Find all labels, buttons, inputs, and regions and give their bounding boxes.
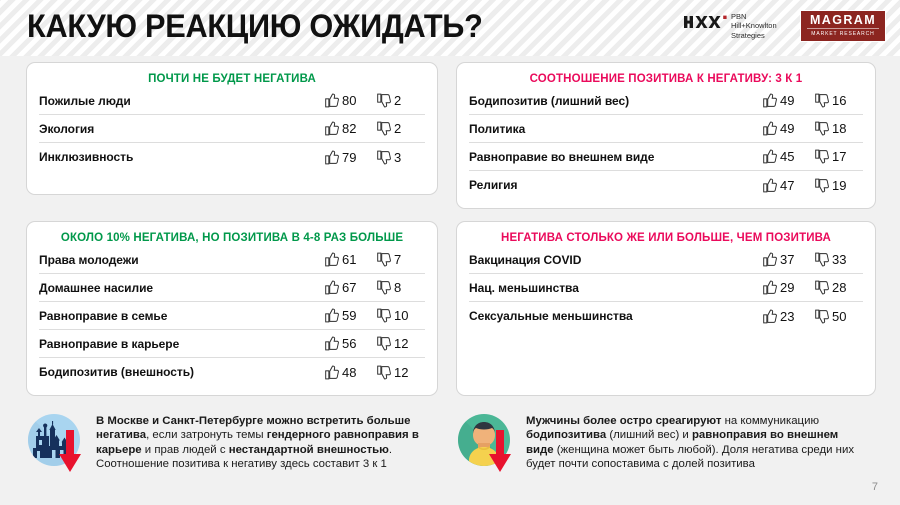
row-label: Пожилые люди: [39, 94, 325, 108]
slide-root: КАКУЮ РЕАКЦИЮ ОЖИДАТЬ? PBN Hill+Knowlton: [0, 0, 900, 505]
footnote-segment: (женщина может быть любой). Доля негатив…: [526, 444, 854, 470]
arrow-down-icon: [59, 430, 81, 472]
row-label: Домашнее насилие: [39, 281, 325, 295]
hk-line-3: Strategies: [731, 31, 765, 40]
footnote-left-badge: [28, 412, 88, 472]
thumbs-down-icon: [815, 149, 829, 164]
thumbs-up-icon: [763, 309, 777, 324]
card-title: ОКОЛО 10% НЕГАТИВА, НО ПОЗИТИВА В 4-8 РА…: [27, 222, 437, 246]
footnote-segment: Мужчины более остро среагируют: [526, 415, 721, 427]
thumbs-down-icon: [377, 308, 391, 323]
positive-value: 49: [780, 121, 794, 136]
thumbs-up-icon: [763, 149, 777, 164]
thumbs-down-icon: [377, 93, 391, 108]
card-title: ПОЧТИ НЕ БУДЕТ НЕГАТИВА: [27, 63, 437, 87]
positive-stat: 61: [325, 252, 377, 267]
footnote-segment: на коммуникацию: [721, 415, 819, 427]
thumbs-down-icon: [815, 280, 829, 295]
table-row: Инклюзивность793: [39, 143, 425, 171]
positive-stat: 79: [325, 150, 377, 165]
row-label: Сексуальные меньшинства: [469, 309, 763, 323]
card-rows: Вакцинация COVID3733Нац. меньшинства2928…: [457, 246, 875, 330]
thumbs-down-icon: [815, 252, 829, 267]
positive-value: 47: [780, 178, 794, 193]
footnote-segment: (лишний вес) и: [606, 429, 692, 441]
row-label: Экология: [39, 122, 325, 136]
page-number: 7: [872, 481, 878, 493]
thumbs-up-icon: [325, 150, 339, 165]
thumbs-up-icon: [325, 365, 339, 380]
slide-header: КАКУЮ РЕАКЦИЮ ОЖИДАТЬ? PBN Hill+Knowlton: [0, 0, 900, 56]
arrow-down-icon: [489, 430, 511, 472]
negative-stat: 8: [377, 280, 425, 295]
positive-value: 59: [342, 308, 356, 323]
negative-stat: 33: [815, 252, 863, 267]
footnote-segment: бодипозитива: [526, 429, 606, 441]
thumbs-up-icon: [325, 336, 339, 351]
positive-value: 61: [342, 252, 356, 267]
hk-line-1: PBN: [731, 12, 746, 21]
page-title: КАКУЮ РЕАКЦИЮ ОЖИДАТЬ?: [27, 6, 483, 46]
table-row: Равноправие во внешнем виде4517: [469, 143, 863, 171]
thumbs-up-icon: [763, 252, 777, 267]
positive-value: 80: [342, 93, 356, 108]
negative-stat: 12: [377, 365, 425, 380]
magram-logo-subtitle: MARKET RESEARCH: [807, 28, 879, 38]
row-label: Вакцинация COVID: [469, 253, 763, 267]
table-row: Сексуальные меньшинства2350: [469, 302, 863, 330]
table-row: Экология822: [39, 115, 425, 143]
thumbs-up-icon: [325, 308, 339, 323]
positive-stat: 48: [325, 365, 377, 380]
card-rows: Бодипозитив (лишний вес)4916Политика4918…: [457, 87, 875, 199]
thumbs-down-icon: [815, 178, 829, 193]
negative-value: 8: [394, 280, 401, 295]
positive-value: 67: [342, 280, 356, 295]
footnote-segment: , если затронуть темы: [146, 429, 267, 441]
negative-stat: 2: [377, 121, 425, 136]
positive-stat: 67: [325, 280, 377, 295]
negative-value: 18: [832, 121, 846, 136]
positive-stat: 80: [325, 93, 377, 108]
thumbs-up-icon: [763, 280, 777, 295]
positive-stat: 45: [763, 149, 815, 164]
table-row: Нац. меньшинства2928: [469, 274, 863, 302]
table-row: Политика4918: [469, 115, 863, 143]
negative-stat: 50: [815, 309, 863, 324]
card-rows: Права молодежи617Домашнее насилие678Равн…: [27, 246, 437, 386]
table-row: Равноправие в карьере5612: [39, 330, 425, 358]
card-title: СООТНОШЕНИЕ ПОЗИТИВА К НЕГАТИВУ: 3 К 1: [457, 63, 875, 87]
negative-value: 28: [832, 280, 846, 295]
negative-value: 2: [394, 121, 401, 136]
table-row: Домашнее насилие678: [39, 274, 425, 302]
positive-value: 82: [342, 121, 356, 136]
table-row: Бодипозитив (лишний вес)4916: [469, 87, 863, 115]
hill-knowlton-logo: PBN Hill+Knowlton Strategies: [684, 12, 777, 40]
positive-stat: 23: [763, 309, 815, 324]
negative-value: 50: [832, 309, 846, 324]
row-label: Равноправие в семье: [39, 309, 325, 323]
positive-value: 49: [780, 93, 794, 108]
card-card-tl: ПОЧТИ НЕ БУДЕТ НЕГАТИВАПожилые люди802Эк…: [26, 62, 438, 195]
thumbs-down-icon: [815, 93, 829, 108]
positive-stat: 56: [325, 336, 377, 351]
row-label: Политика: [469, 122, 763, 136]
negative-value: 3: [394, 150, 401, 165]
positive-stat: 29: [763, 280, 815, 295]
positive-value: 29: [780, 280, 794, 295]
row-label: Равноправие во внешнем виде: [469, 150, 763, 164]
magram-logo-name: MAGRAM: [810, 14, 876, 27]
thumbs-up-icon: [325, 121, 339, 136]
thumbs-up-icon: [763, 121, 777, 136]
positive-stat: 37: [763, 252, 815, 267]
row-label: Бодипозитив (внешность): [39, 365, 325, 379]
negative-value: 7: [394, 252, 401, 267]
table-row: Вакцинация COVID3733: [469, 246, 863, 274]
thumbs-down-icon: [377, 365, 391, 380]
positive-value: 48: [342, 365, 356, 380]
footnote-segment: нестандартной внешностью: [229, 444, 389, 456]
footnote-segment: и прав людей с: [142, 444, 229, 456]
thumbs-down-icon: [377, 280, 391, 295]
negative-stat: 10: [377, 308, 425, 323]
negative-value: 12: [394, 365, 408, 380]
footnote-left: В Москве и Санкт-Петербурге можно встрет…: [28, 412, 438, 472]
card-card-tr: СООТНОШЕНИЕ ПОЗИТИВА К НЕГАТИВУ: 3 К 1Бо…: [456, 62, 876, 209]
card-rows: Пожилые люди802Экология822Инклюзивность7…: [27, 87, 437, 171]
row-label: Равноправие в карьере: [39, 337, 325, 351]
row-label: Религия: [469, 178, 763, 192]
row-label: Инклюзивность: [39, 150, 325, 164]
thumbs-down-icon: [377, 150, 391, 165]
card-title: НЕГАТИВА СТОЛЬКО ЖЕ ИЛИ БОЛЬШЕ, ЧЕМ ПОЗИ…: [457, 222, 875, 246]
card-card-bl: ОКОЛО 10% НЕГАТИВА, НО ПОЗИТИВА В 4-8 РА…: [26, 221, 438, 396]
thumbs-up-icon: [763, 178, 777, 193]
thumbs-up-icon: [325, 93, 339, 108]
negative-value: 33: [832, 252, 846, 267]
positive-value: 79: [342, 150, 356, 165]
negative-stat: 17: [815, 149, 863, 164]
thumbs-up-icon: [325, 252, 339, 267]
positive-value: 23: [780, 309, 794, 324]
footnote-left-text: В Москве и Санкт-Петербурге можно встрет…: [96, 412, 438, 472]
negative-stat: 16: [815, 93, 863, 108]
thumbs-up-icon: [325, 280, 339, 295]
negative-stat: 7: [377, 252, 425, 267]
thumbs-down-icon: [377, 121, 391, 136]
footnote-right: Мужчины более остро среагируют на коммун…: [458, 412, 868, 472]
row-label: Бодипозитив (лишний вес): [469, 94, 763, 108]
table-row: Бодипозитив (внешность)4812: [39, 358, 425, 386]
hk-line-2: Hill+Knowlton: [731, 21, 777, 30]
positive-stat: 59: [325, 308, 377, 323]
positive-value: 37: [780, 252, 794, 267]
negative-stat: 18: [815, 121, 863, 136]
thumbs-up-icon: [763, 93, 777, 108]
row-label: Нац. меньшинства: [469, 281, 763, 295]
thumbs-down-icon: [815, 121, 829, 136]
table-row: Права молодежи617: [39, 246, 425, 274]
positive-stat: 49: [763, 121, 815, 136]
negative-value: 10: [394, 308, 408, 323]
positive-stat: 47: [763, 178, 815, 193]
negative-stat: 12: [377, 336, 425, 351]
negative-value: 17: [832, 149, 846, 164]
footnote-right-text: Мужчины более остро среагируют на коммун…: [526, 412, 868, 472]
positive-stat: 82: [325, 121, 377, 136]
positive-stat: 49: [763, 93, 815, 108]
card-card-br: НЕГАТИВА СТОЛЬКО ЖЕ ИЛИ БОЛЬШЕ, ЧЕМ ПОЗИ…: [456, 221, 876, 396]
table-row: Религия4719: [469, 171, 863, 199]
hk-monogram-icon: [684, 14, 726, 30]
row-label: Права молодежи: [39, 253, 325, 267]
negative-value: 2: [394, 93, 401, 108]
negative-stat: 28: [815, 280, 863, 295]
negative-stat: 3: [377, 150, 425, 165]
thumbs-down-icon: [815, 309, 829, 324]
negative-stat: 2: [377, 93, 425, 108]
negative-value: 12: [394, 336, 408, 351]
thumbs-down-icon: [377, 336, 391, 351]
positive-value: 45: [780, 149, 794, 164]
footnote-right-badge: [458, 412, 518, 472]
table-row: Равноправие в семье5910: [39, 302, 425, 330]
magram-logo: MAGRAM MARKET RESEARCH: [800, 10, 886, 42]
hk-logo-text: PBN Hill+Knowlton Strategies: [731, 12, 777, 40]
negative-value: 19: [832, 178, 846, 193]
negative-stat: 19: [815, 178, 863, 193]
thumbs-down-icon: [377, 252, 391, 267]
positive-value: 56: [342, 336, 356, 351]
negative-value: 16: [832, 93, 846, 108]
table-row: Пожилые люди802: [39, 87, 425, 115]
